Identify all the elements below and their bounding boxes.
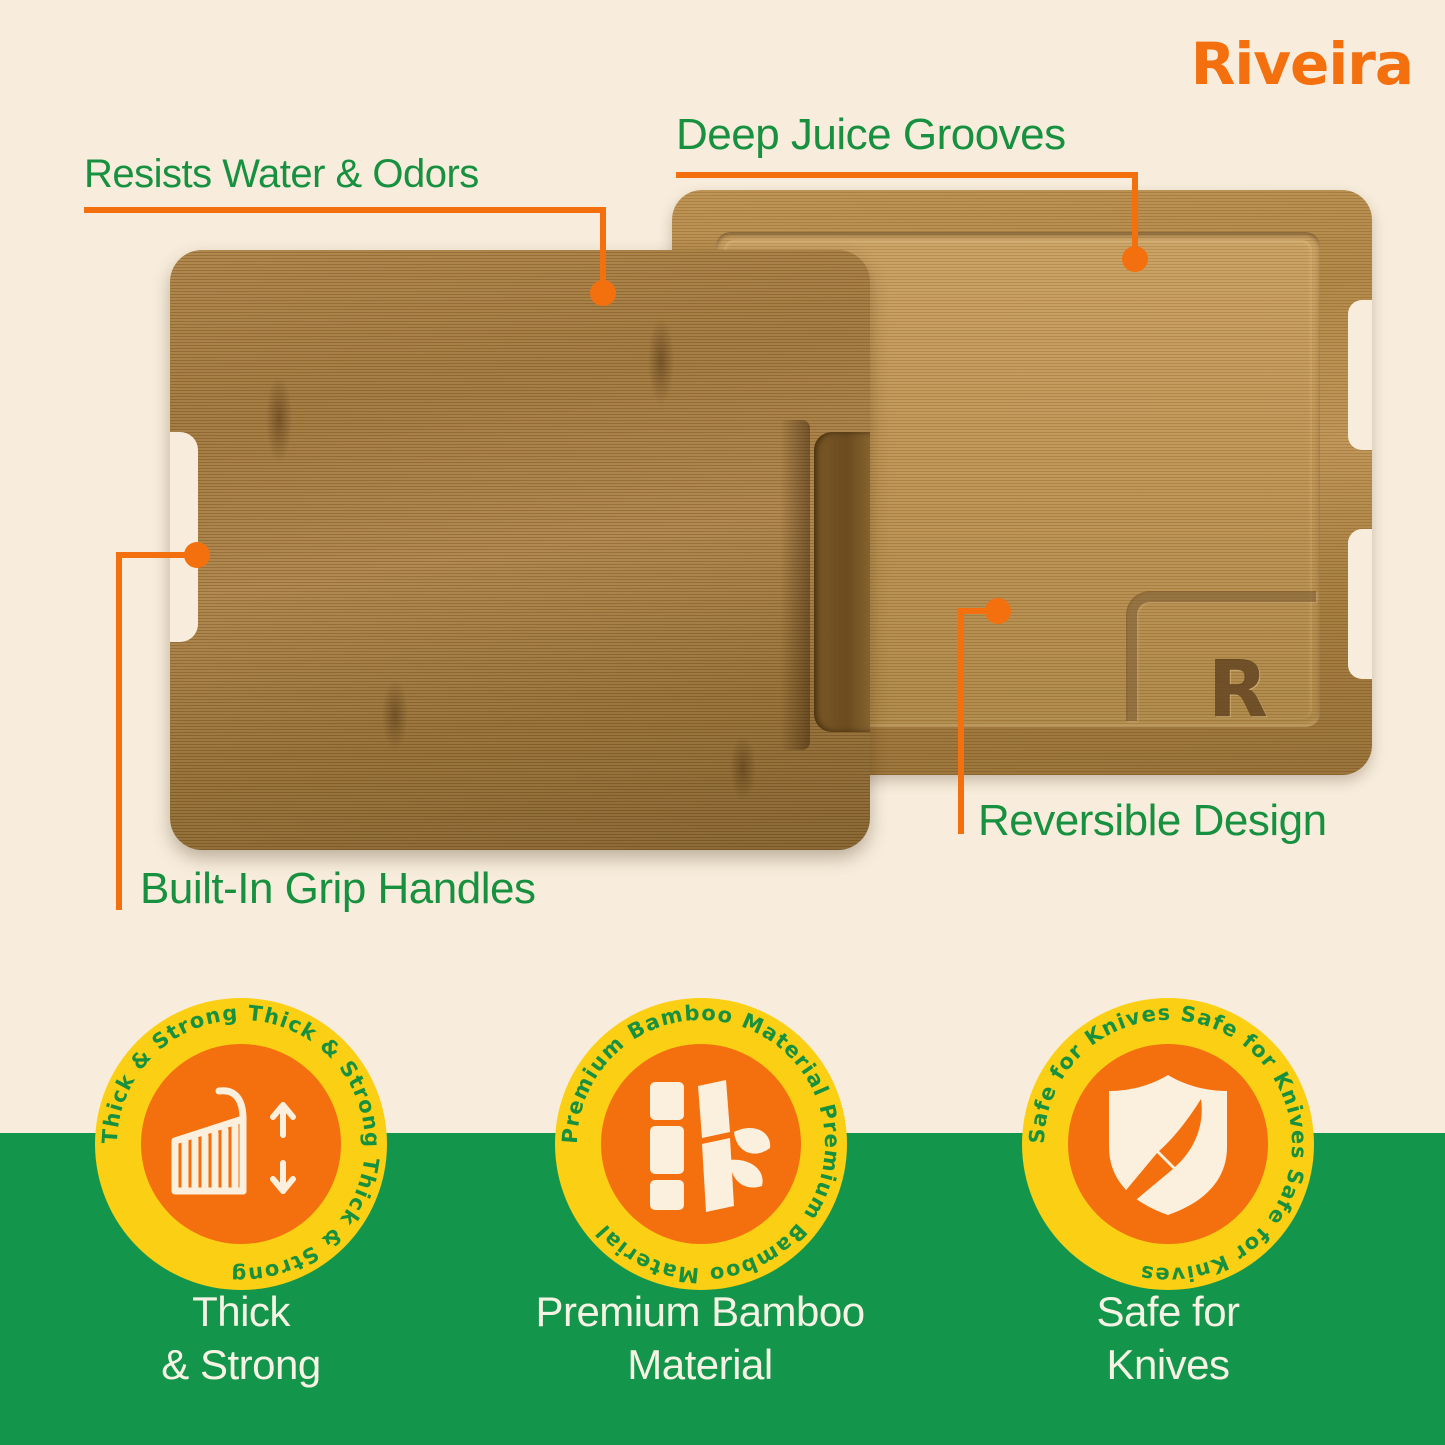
badge-safe-for-knives: Safe for Knives Safe for Knives Safe for…: [1022, 998, 1314, 1290]
brand-logo: Riveira: [1191, 30, 1413, 98]
engraved-brand-mark: R: [1208, 651, 1268, 729]
wood-grain-knot: [648, 318, 674, 404]
caption-line: Knives: [1028, 1339, 1308, 1392]
wood-grain-knot: [266, 376, 292, 462]
wood-grain-knot: [730, 736, 756, 800]
back-board-grip-notch-bottom: [1348, 529, 1372, 679]
wood-grain-knot: [382, 680, 408, 750]
callout-label-resists-water-odors: Resists Water & Odors: [84, 152, 479, 197]
back-board-grip-notch-top: [1348, 300, 1372, 450]
caption-line: Material: [505, 1339, 895, 1392]
front-board: [170, 250, 870, 850]
caption-line: Thick: [101, 1286, 381, 1339]
badge-captions: Thick & Strong Premium Bamboo Material S…: [0, 1286, 1445, 1426]
grip-handle-left: [170, 432, 198, 642]
callout-dot-resists-water-odors: [590, 280, 616, 306]
callout-label-deep-juice-grooves: Deep Juice Grooves: [676, 110, 1066, 160]
shield-knife-icon: [1068, 1044, 1268, 1244]
callout-leader-line-deep-juice-grooves: [676, 172, 1138, 178]
callout-label-built-in-grip-handles: Built-In Grip Handles: [140, 864, 535, 914]
product-photo: R: [0, 150, 1445, 970]
caption-premium-bamboo-material: Premium Bamboo Material: [505, 1286, 895, 1391]
callout-leader-line-built-in-grip-handles: [116, 552, 194, 558]
badge-premium-bamboo-material: Premium Bamboo Material Premium Bamboo M…: [555, 998, 847, 1290]
feature-badges: Thick & Strong Thick & Strong Thick & St…: [0, 998, 1445, 1298]
callout-label-reversible-design: Reversible Design: [978, 796, 1327, 846]
caption-thick-and-strong: Thick & Strong: [101, 1286, 381, 1391]
caption-line: Safe for: [1028, 1286, 1308, 1339]
callout-leader-stem-deep-juice-grooves: [1132, 172, 1138, 254]
callout-leader-line-resists-water-odors: [84, 207, 606, 213]
caption-line: Premium Bamboo: [505, 1286, 895, 1339]
callout-leader-stem-built-in-grip-handles: [116, 552, 122, 910]
grip-handle-shadow: [780, 420, 810, 750]
badge-thick-and-strong: Thick & Strong Thick & Strong Thick & St…: [95, 998, 387, 1290]
grip-handle-right: [814, 432, 870, 732]
caption-line: & Strong: [101, 1339, 381, 1392]
callout-dot-deep-juice-grooves: [1122, 246, 1148, 272]
product-infographic: Riveira R Resists Water & Odors Deep Jui…: [0, 0, 1445, 1445]
bamboo-stalks-icon: [601, 1044, 801, 1244]
callout-leader-stem-reversible-design: [958, 608, 964, 834]
caption-safe-for-knives: Safe for Knives: [1028, 1286, 1308, 1391]
board-thickness-icon: [141, 1044, 341, 1244]
